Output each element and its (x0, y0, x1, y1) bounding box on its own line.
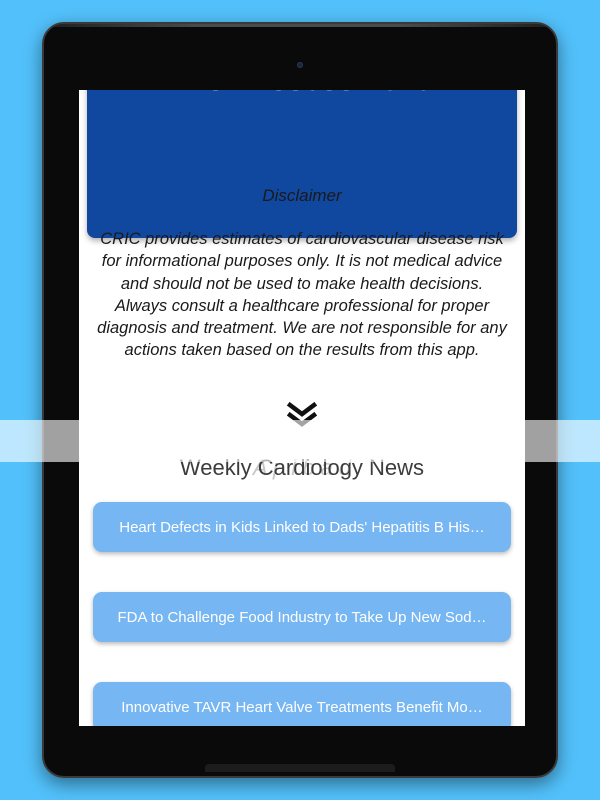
disclaimer-body-text: CRIC provides estimates of cardiovascula… (93, 228, 511, 362)
app-viewport: Risk Assessment Disclaimer CRIC provides… (79, 90, 525, 726)
news-card-title: Innovative TAVR Heart Valve Treatments B… (121, 699, 483, 716)
disclaimer-section: Disclaimer CRIC provides estimates of ca… (79, 186, 525, 362)
speaker-bar-icon (205, 764, 395, 772)
disclaimer-heading: Disclaimer (93, 186, 511, 206)
page-title: Risk Assessment (87, 90, 517, 96)
news-list: Heart Defects in Kids Linked to Dads' He… (93, 502, 511, 726)
device-top-edge-highlight (44, 24, 556, 27)
double-chevron-down-icon[interactable] (285, 400, 319, 430)
tablet-device-frame: Risk Assessment Disclaimer CRIC provides… (42, 22, 558, 778)
camera-dot-icon (297, 62, 303, 68)
news-section-heading-area: A p l b a d Weekly Cardiology News (79, 448, 525, 488)
news-section-heading: Weekly Cardiology News (79, 448, 525, 488)
news-card-title: FDA to Challenge Food Industry to Take U… (117, 609, 486, 626)
news-card-title: Heart Defects in Kids Linked to Dads' He… (119, 519, 485, 536)
news-card-item[interactable]: Innovative TAVR Heart Valve Treatments B… (93, 682, 511, 726)
news-card-item[interactable]: FDA to Challenge Food Industry to Take U… (93, 592, 511, 642)
news-card-item[interactable]: Heart Defects in Kids Linked to Dads' He… (93, 502, 511, 552)
scroll-down-hint[interactable] (79, 400, 525, 434)
